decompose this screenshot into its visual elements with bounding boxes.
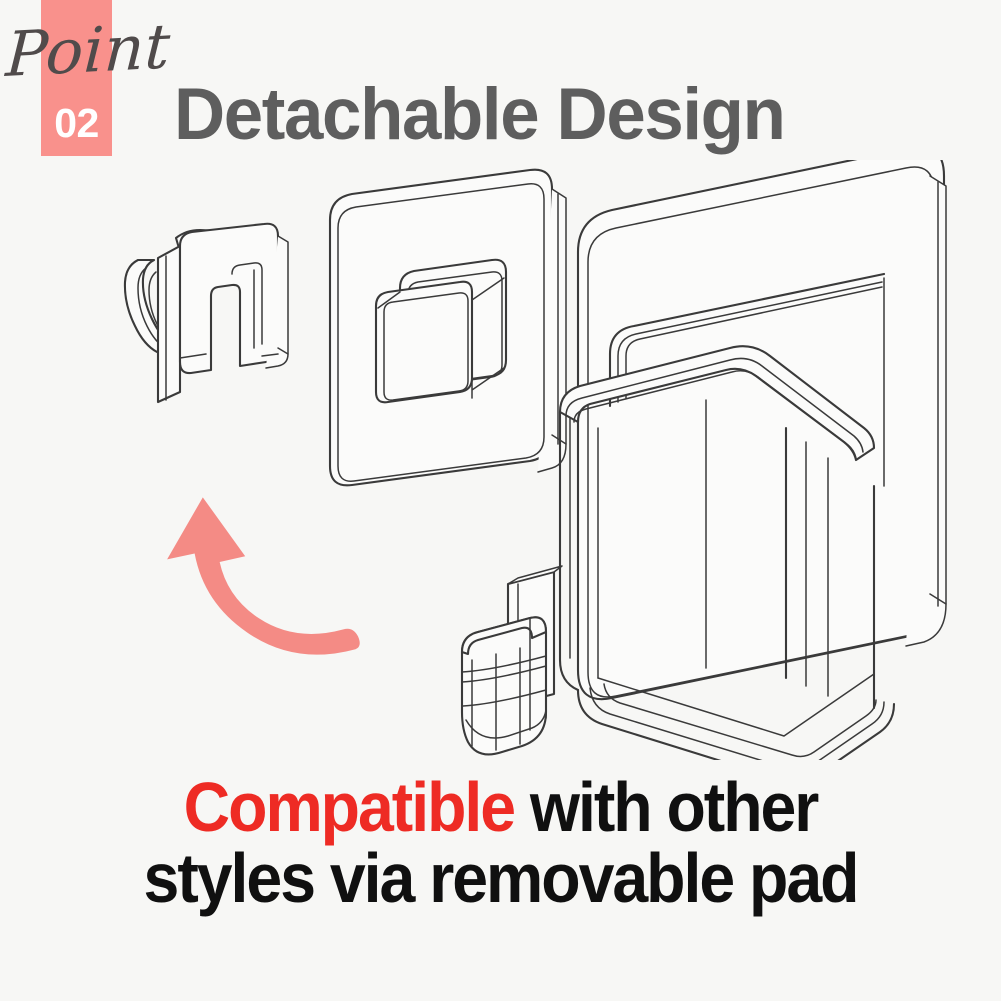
caption-line-1: Compatible with other — [40, 772, 961, 843]
product-illustration: .ln { fill:none; stroke:#3a3a3a; stroke-… — [0, 160, 1001, 760]
bracket-clip-part — [125, 224, 288, 402]
infographic-page: Point 02 Detachable Design .ln { fill:no… — [0, 0, 1001, 1001]
caption-line-2: styles via removable pad — [40, 843, 961, 914]
caption-highlight: Compatible — [184, 768, 514, 846]
point-number: 02 — [41, 95, 112, 151]
point-script-label: Point — [4, 7, 179, 94]
page-title: Detachable Design — [174, 78, 784, 151]
swap-arrow-icon — [161, 483, 361, 670]
adhesive-pad-part — [330, 170, 566, 486]
caption-line-1-rest: with other — [514, 768, 817, 846]
caption-block: Compatible with other styles via removab… — [0, 772, 1001, 915]
